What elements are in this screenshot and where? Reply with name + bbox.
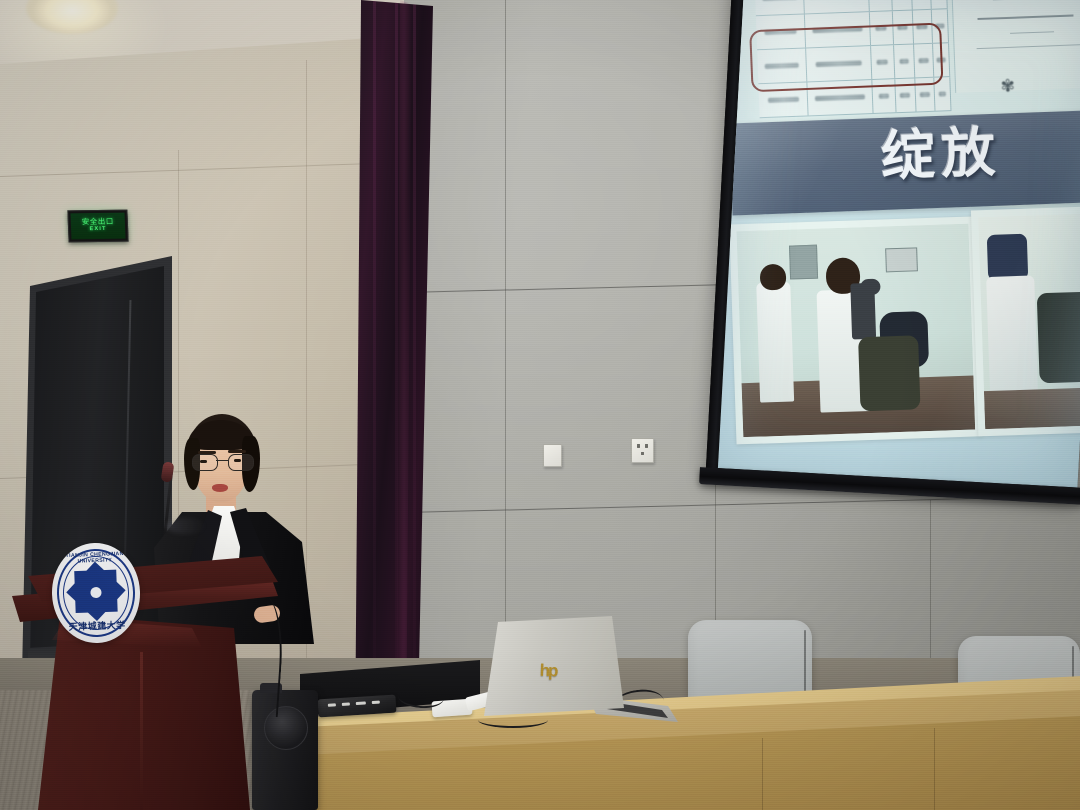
wall-seam — [505, 0, 506, 700]
slide-banner-title: 绽放 — [880, 125, 1002, 183]
hp-laptop[interactable]: hp — [482, 616, 662, 736]
table-panel-seam — [934, 728, 935, 810]
projection-screen: ✾ 绽放 之 — [704, 0, 1080, 520]
presenter-eye — [234, 459, 241, 462]
lectern-center-edge — [140, 652, 143, 810]
exit-sign-face: 安全出口 EXIT — [70, 213, 125, 240]
power-socket[interactable] — [631, 438, 654, 463]
slide-photo — [729, 216, 982, 444]
lectern — [8, 556, 290, 810]
crest-english-name: TIANJIN CHENGJIAN UNIVERSITY — [51, 550, 139, 565]
presenter-eye — [200, 460, 207, 463]
slide-photo — [971, 206, 1080, 436]
jacket-highlight — [166, 518, 206, 534]
slide-photo-row — [727, 202, 1080, 476]
hp-logo-icon: hp — [534, 660, 563, 683]
slide-content: ✾ 绽放 之 — [718, 0, 1080, 488]
blank-wall-plate[interactable] — [543, 444, 562, 467]
presenter-eyebrow — [228, 450, 246, 453]
table-panel-seam — [762, 738, 763, 810]
emergency-exit-sign: 安全出口 EXIT — [67, 210, 128, 243]
university-crest: TIANJIN CHENGJIAN UNIVERSITY 天津城建大学 — [50, 541, 141, 644]
slide-stamp-icon: ✾ — [1000, 77, 1023, 104]
presenter-mouth — [212, 484, 228, 492]
slide-highlight-box — [749, 23, 943, 93]
exit-sign-english-label: EXIT — [89, 226, 106, 234]
socket-holes-icon — [632, 439, 653, 462]
screen-surface: ✾ 绽放 之 — [718, 0, 1080, 488]
lecture-hall-photo: ✾ 绽放 之 — [0, 0, 1080, 810]
